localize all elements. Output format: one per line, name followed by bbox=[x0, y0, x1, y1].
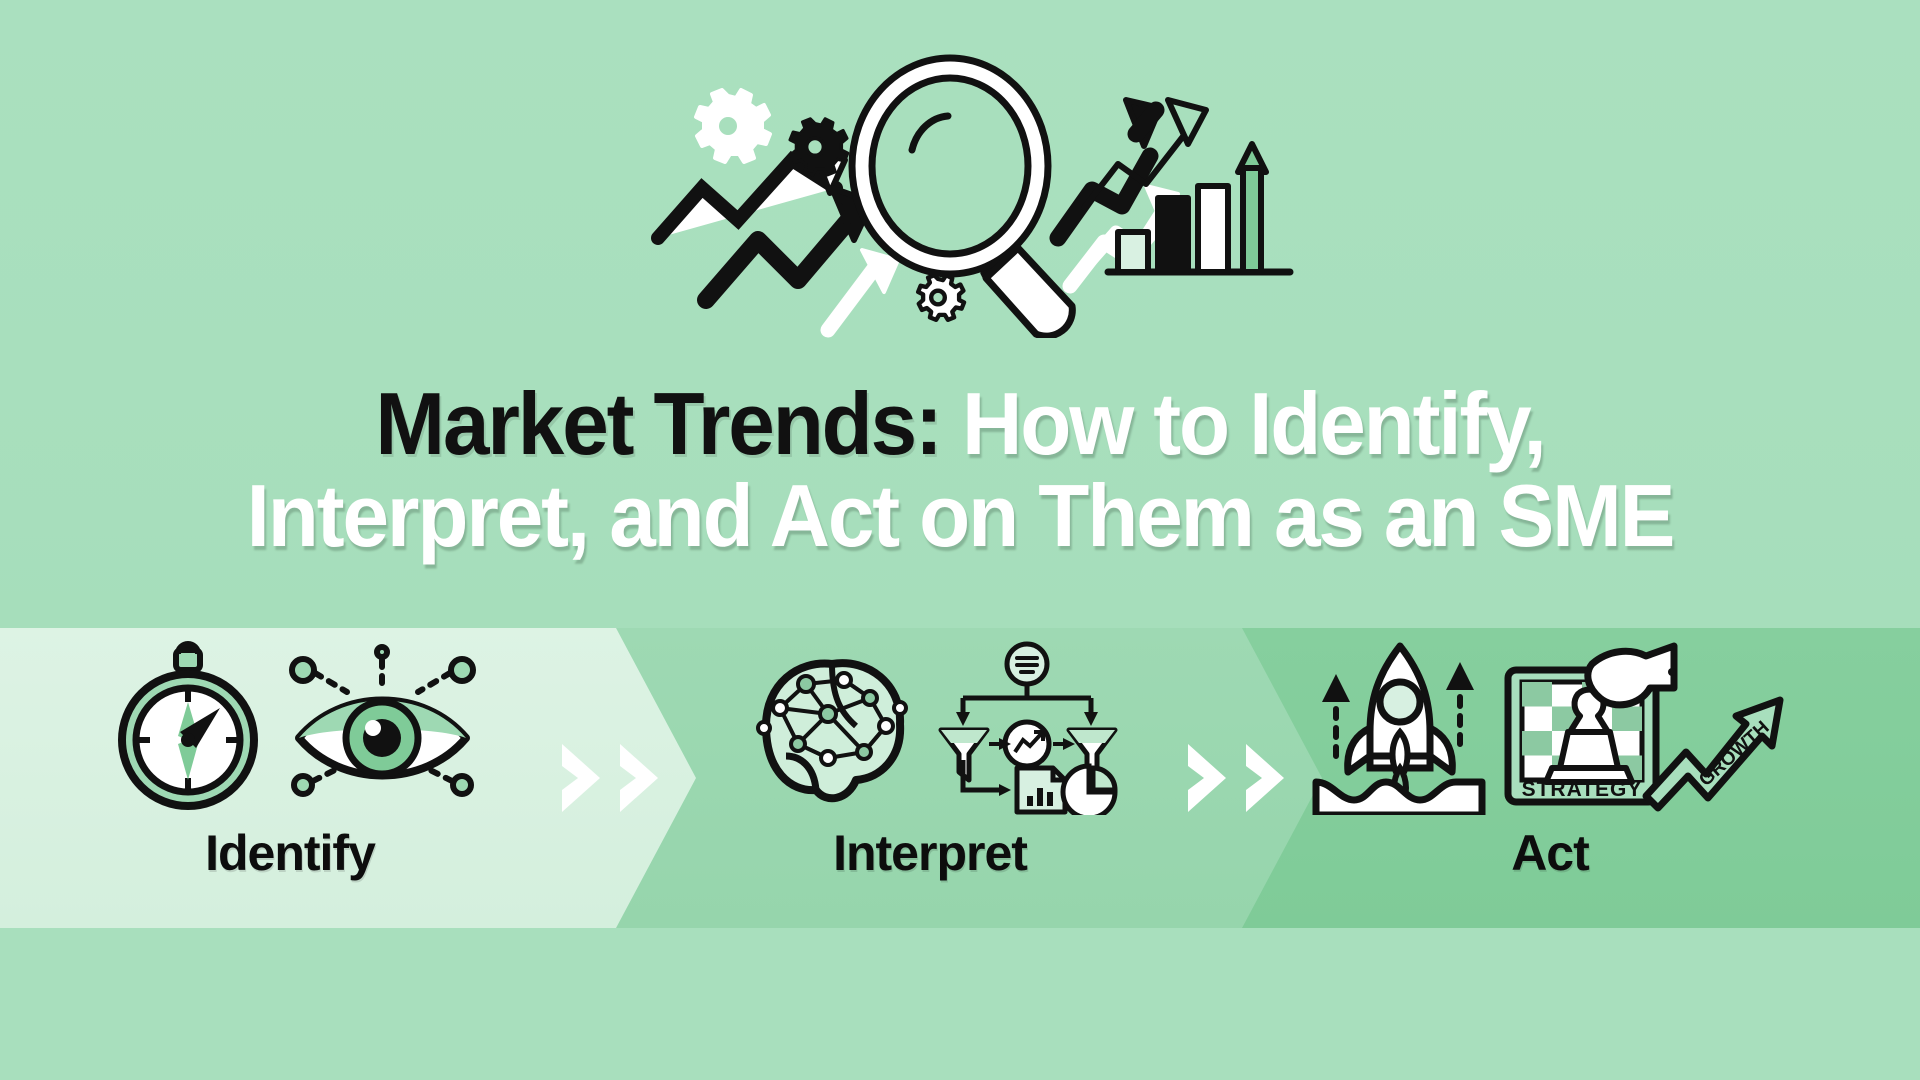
data-flow-icon bbox=[935, 640, 1120, 815]
hero-section: Market Trends: How to Identify, Interpre… bbox=[0, 0, 1920, 628]
identify-icons bbox=[60, 628, 520, 818]
title-rest-1: How to Identify, bbox=[962, 374, 1545, 473]
interpret-icons bbox=[700, 628, 1160, 818]
process-stage-interpret: Interpret bbox=[700, 628, 1160, 928]
stage-label-identify: Identify bbox=[205, 824, 375, 882]
footer-band: SME bbox=[0, 928, 1920, 1080]
compass-icon bbox=[100, 640, 275, 815]
market-analysis-illustration bbox=[640, 38, 1310, 338]
brain-network-icon bbox=[740, 640, 925, 815]
stage-label-act: Act bbox=[1511, 824, 1589, 882]
growth-label: GROWTH bbox=[1695, 717, 1773, 791]
process-stage-identify: Identify bbox=[60, 628, 520, 928]
process-band: Identify bbox=[0, 628, 1920, 928]
page-title: Market Trends: How to Identify, Interpre… bbox=[0, 378, 1920, 561]
process-stage-act: GROWTH STRATEGY Act bbox=[1300, 628, 1800, 928]
eye-icon bbox=[285, 640, 480, 815]
act-icons: GROWTH STRATEGY bbox=[1300, 628, 1800, 818]
title-emphasis: Market Trends: bbox=[375, 374, 940, 473]
rocket-launch-icon bbox=[1310, 640, 1490, 815]
strategy-growth-icon: GROWTH STRATEGY bbox=[1500, 640, 1790, 815]
title-line-2: Interpret, and Act on Them as an SME bbox=[48, 470, 1872, 562]
stage-label-interpret: Interpret bbox=[833, 824, 1027, 882]
title-line-1: Market Trends: How to Identify, bbox=[48, 378, 1872, 470]
strategy-label: STRATEGY bbox=[1522, 778, 1643, 801]
